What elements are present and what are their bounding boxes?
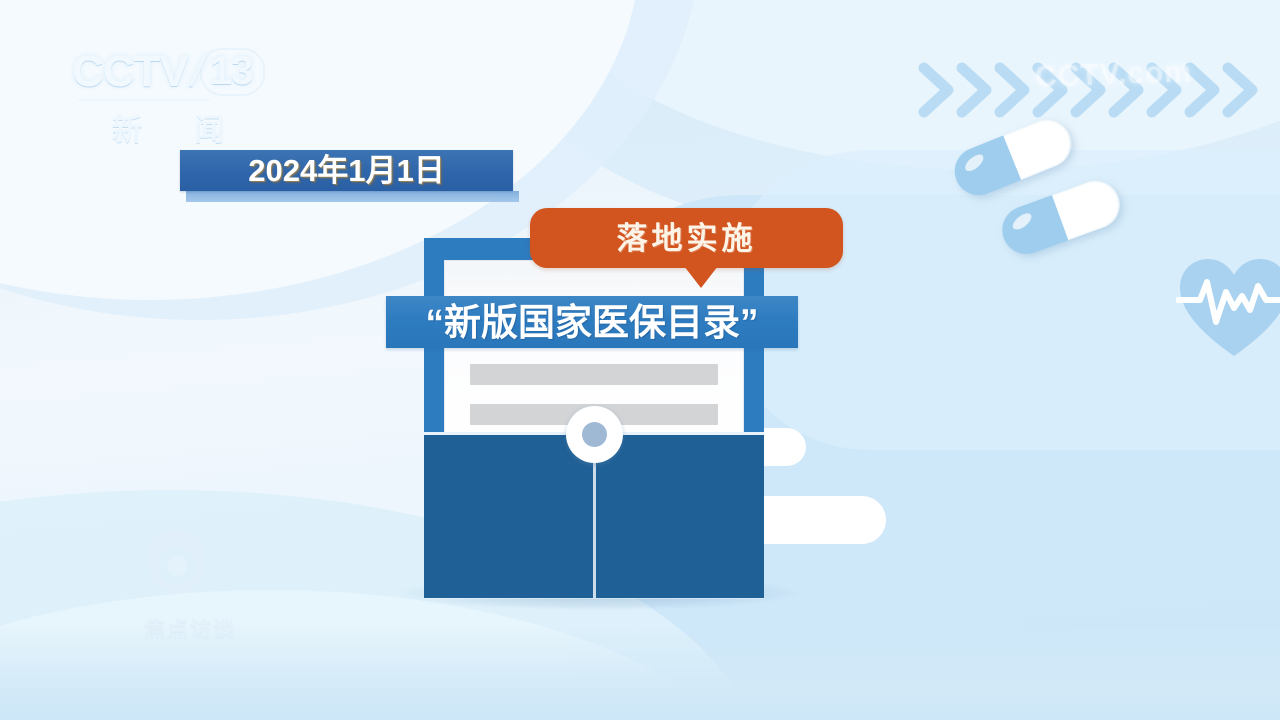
cctv-13-logo: CCTV / 13 新 闻 — [72, 48, 277, 144]
cctv-logo-row: CCTV / 13 — [72, 48, 277, 96]
bubble-text: 落地实施 — [617, 223, 757, 254]
watermark-mark-icon — [138, 525, 216, 603]
date-banner-text: 2024年1月1日 — [248, 155, 444, 186]
cctv-brand-text: CCTV — [72, 50, 188, 94]
bubble-tail-icon — [684, 266, 718, 288]
medical-insurance-briefcase — [398, 232, 798, 612]
chevron-right-icon — [918, 62, 958, 118]
headline-title-text: “新版国家医保目录” — [426, 304, 759, 341]
capsule-gloss — [1010, 210, 1034, 232]
chevron-right-icon — [1222, 62, 1262, 118]
briefcase-clasp-center — [582, 422, 607, 447]
capsule-gloss — [962, 152, 986, 175]
chevron-right-icon — [956, 62, 996, 118]
chevron-right-icon — [994, 62, 1034, 118]
watermark-title-text: 焦点访谈 — [120, 613, 260, 643]
date-banner: 2024年1月1日 — [180, 150, 513, 191]
cctv-channel-name: 新 闻 — [112, 105, 277, 149]
heart-shape — [1180, 259, 1280, 356]
headline-title-bar: “新版国家医保目录” — [386, 296, 798, 348]
document-line — [470, 364, 718, 385]
focus-interview-watermark: 焦点访谈 — [120, 525, 260, 645]
briefcase-clasp — [566, 406, 623, 463]
site-watermark: CCTV.com — [1034, 55, 1192, 94]
cctv-logo-underline — [78, 99, 210, 101]
heart-ecg-icon — [1176, 252, 1280, 362]
date-banner-shadow — [186, 191, 519, 202]
cctv-channel-number: 13 — [200, 48, 265, 96]
landing-implementation-bubble: 落地实施 — [530, 208, 843, 268]
broadcast-graphic-stage: CCTV.com CCTV / 13 新 闻 2024年1月1日 落 — [0, 0, 1280, 720]
